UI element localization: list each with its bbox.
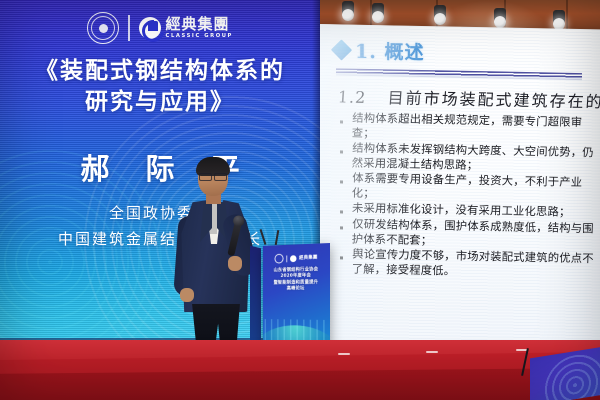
heading-underline [336,68,582,79]
led-logo-row: 經典集團 CLASSIC GROUP [0,12,320,44]
stage-light-icon [432,5,448,27]
list-item: 结构体系超出相关规范规定，需要专门超限审查； [340,111,598,145]
podium-logo-row: 經典集團 [263,252,330,264]
list-item: 舆论宣传力度不够，市场对装配式建筑的优点不了解，接受程度低。 [340,247,598,281]
stage-light-icon [340,1,356,23]
bullet-dot-icon [340,120,343,123]
speaker-name: 郝 际 平 [0,146,320,188]
podium-event-title: 山东省钢结构行业协会 2020年度年会 暨智能制造和质量提升 高峰论坛 [263,267,330,293]
bullet-dot-icon [340,210,343,213]
list-item: 仅研发结构体系，围护体系成熟度低，结构与围护体系不配套； [340,217,598,251]
conference-stage-photo: 1. 概述 1.2 目前市场装配式建筑存在的问题 结构体系超出相关规范规定，需要… [0,0,600,400]
presentation-title: 《装配式钢结构体系的 研究与应用》 [0,56,320,118]
side-panel-pattern [540,350,600,400]
podium-logo-divider [286,255,287,262]
subheading-number: 1.2 [337,87,367,107]
diamond-bullet-icon [331,39,352,60]
brand-name-en: CLASSIC GROUP [166,34,233,39]
list-item: 结构体系未发挥钢结构大跨度、大空间优势，仍然采用混凝土结构思路； [340,141,598,175]
slide-bullet-list: 结构体系超出相关规范规定，需要专门超限审查； 结构体系未发挥钢结构大跨度、大空间… [340,111,598,280]
slide-heading: 1. 概述 [355,37,424,65]
bullet-dot-icon [340,150,343,153]
association-seal-icon [87,12,119,44]
bullet-dot-icon [340,256,343,259]
speaker-role-line1: 全国政协委员 [0,200,320,226]
bullet-dot-icon [340,180,343,183]
slide-subheading: 1.2 目前市场装配式建筑存在的问题 [337,83,599,112]
projection-slide: 1. 概述 1.2 目前市场装配式建筑存在的问题 结构体系超出相关规范规定，需要… [318,24,600,346]
presentation-title-line1: 《装配式钢结构体系的 [0,56,320,87]
subheading-text: 目前市场装配式建筑存在的问题 [387,88,600,112]
classic-group-logo: 經典集團 CLASSIC GROUP [139,17,233,39]
podium-skyline-graphic [263,319,330,342]
classic-group-mark-icon [139,17,161,39]
bullet-dot-icon [340,226,343,229]
speaker-left-hand [180,288,194,302]
speaker-role: 全国政协委员 中国建筑金属结构协会会长 [0,200,320,252]
brand-name-cn: 經典集團 [166,17,233,32]
speaker-right-hand [228,256,242,271]
logo-divider [128,15,130,41]
stage-light-icon [370,3,386,25]
podium-title-line4: 高峰论坛 [263,286,330,293]
glasses-icon [199,173,227,179]
list-item: 体系需要专用设备生产，投资大，不利于产业化； [340,171,598,205]
podium-seal-icon [274,254,283,264]
slide-heading-row: 1. 概述 [334,36,598,68]
podium-brand-name: 經典集團 [299,254,318,261]
podium-brand-mark-icon [290,255,296,262]
presentation-title-line2: 研究与应用》 [0,87,320,118]
